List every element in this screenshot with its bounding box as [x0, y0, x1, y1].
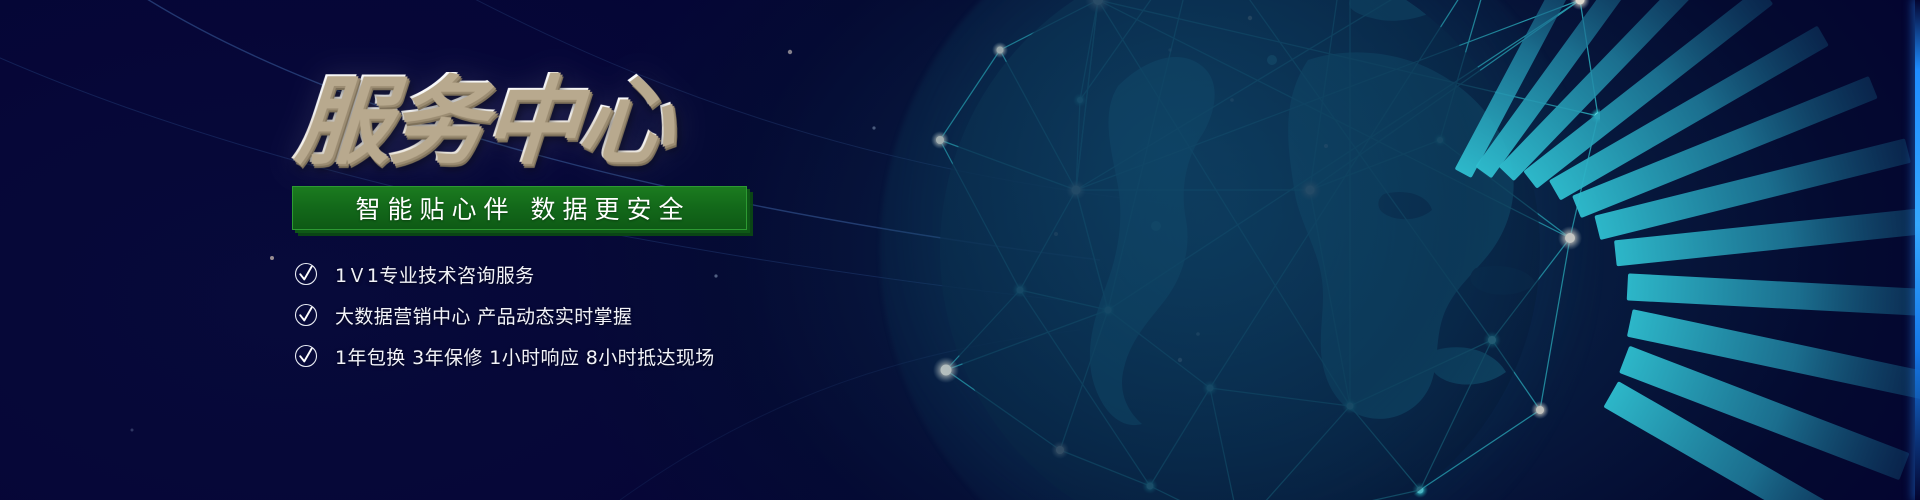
list-item: 1Ｖ1专业技术咨询服务 — [294, 258, 1050, 290]
list-item: 大数据营销中心 产品动态实时掌握 — [294, 299, 1050, 331]
ribbon-label: 智能贴心伴 数据更安全 — [349, 190, 691, 226]
feature-label: 大数据营销中心 产品动态实时掌握 — [335, 302, 632, 329]
radial-stripes-graphic — [1370, 0, 1920, 500]
check-circle-icon — [294, 303, 318, 327]
check-circle-icon — [294, 344, 318, 368]
page-title: 服务中心 — [291, 72, 1054, 168]
feature-label: 1年包换 3年保修 1小时响应 8小时抵达现场 — [335, 343, 715, 370]
service-center-banner: 服务中心 智能贴心伴 数据更安全 1Ｖ1专业技术咨询服务 — [0, 0, 1920, 500]
list-item: 1年包换 3年保修 1小时响应 8小时抵达现场 — [294, 340, 1050, 372]
right-edge-light-line — [1915, 0, 1920, 500]
feature-label: 1Ｖ1专业技术咨询服务 — [335, 261, 535, 288]
check-circle-icon — [294, 262, 318, 286]
tagline-ribbon: 智能贴心伴 数据更安全 — [292, 186, 747, 230]
banner-content: 服务中心 智能贴心伴 数据更安全 1Ｖ1专业技术咨询服务 — [290, 72, 1050, 388]
feature-list: 1Ｖ1专业技术咨询服务 大数据营销中心 产品动态实时掌握 1年包换 3年保修 1… — [294, 258, 1050, 372]
ribbon-front: 智能贴心伴 数据更安全 — [292, 186, 747, 230]
